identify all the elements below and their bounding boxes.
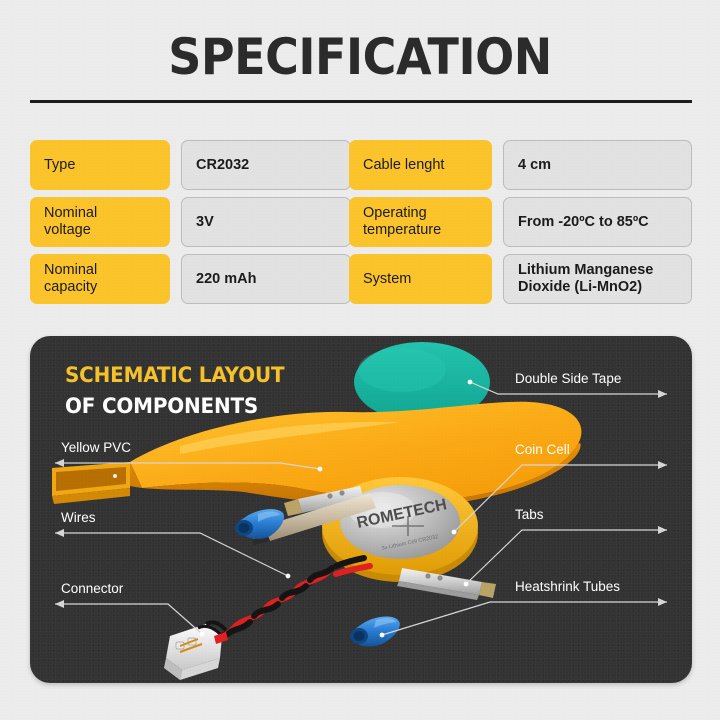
spec-key: System xyxy=(349,254,492,304)
spec-value: 4 cm xyxy=(503,140,692,190)
schematic-heading: SCHEMATIC LAYOUT OF COMPONENTS xyxy=(65,363,284,418)
spec-value: From -20ºC to 85ºC xyxy=(503,197,692,247)
page-title: SPECIFICATION xyxy=(29,28,691,86)
spec-key: Nominalcapacity xyxy=(30,254,170,304)
callout-label-yellow-pvc: Yellow PVC xyxy=(61,440,131,455)
schematic-heading-line1: SCHEMATIC LAYOUT xyxy=(65,363,284,387)
title-divider xyxy=(30,100,692,103)
callout-label-heatshrink-tubes: Heatshrink Tubes xyxy=(515,579,620,594)
callout-label-wires: Wires xyxy=(61,510,96,525)
callout-label-connector: Connector xyxy=(61,581,123,596)
spec-value: 220 mAh xyxy=(181,254,351,304)
callout-label-coin-cell: Coin Cell xyxy=(515,442,570,457)
schematic-heading-line2: OF COMPONENTS xyxy=(65,394,284,418)
callout-label-tabs: Tabs xyxy=(515,507,544,522)
callout-label-double-side-tape: Double Side Tape xyxy=(515,371,621,386)
spec-key: Nominalvoltage xyxy=(30,197,170,247)
spec-value: 3V xyxy=(181,197,351,247)
schematic-panel: SCHEMATIC LAYOUT OF COMPONENTS xyxy=(30,336,692,683)
spec-value: Lithium ManganeseDioxide (Li-MnO2) xyxy=(503,254,692,304)
spec-key: Operatingtemperature xyxy=(349,197,492,247)
spec-key: Type xyxy=(30,140,170,190)
spec-key: Cable lenght xyxy=(349,140,492,190)
spec-value: CR2032 xyxy=(181,140,351,190)
